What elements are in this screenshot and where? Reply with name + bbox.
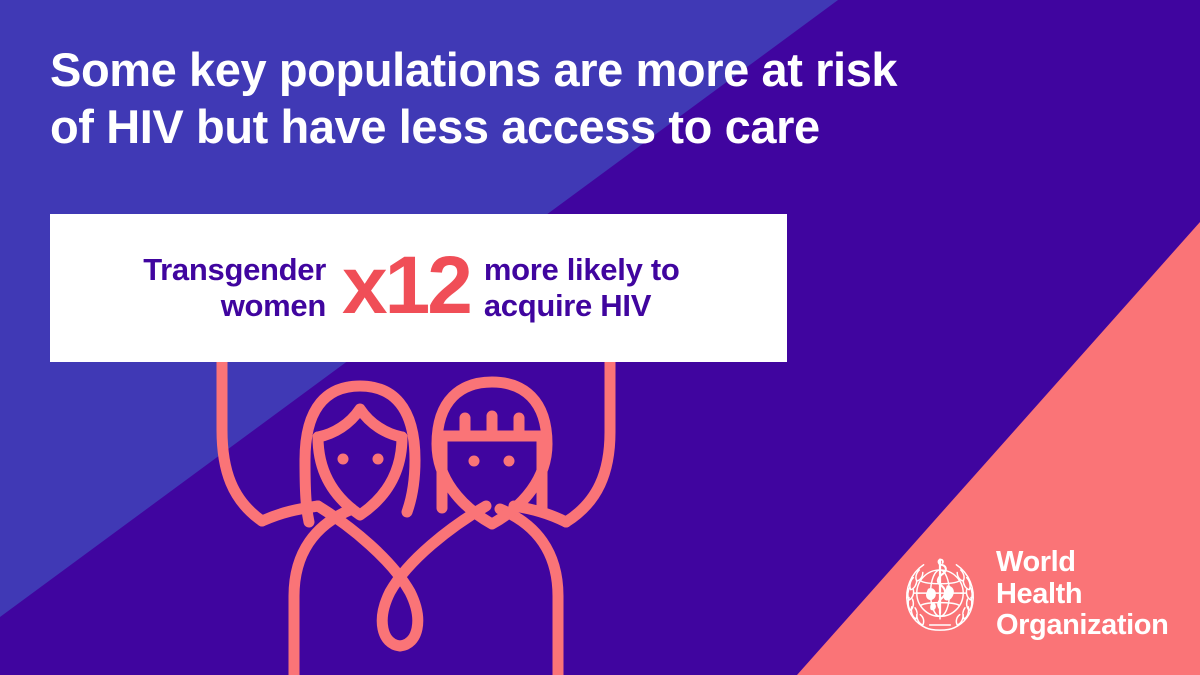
who-emblem-icon [897,551,983,637]
statistic-card: Transgender women x12 more likely to acq… [50,214,787,362]
statistic-outcome: more likely to acquire HIV [484,252,680,324]
left-figure-hair-left-side [305,460,309,522]
right-figure-head-outline [437,382,547,524]
statistic-multiplier: x12 [326,247,484,324]
left-figure-body [294,509,352,675]
right-figure-body [500,509,558,675]
headline-line-2: of HIV but have less access to care [50,99,1110,156]
who-name-line-2: Organization [996,610,1168,641]
statistic-subject-line-1: Transgender [80,252,326,288]
who-logo: World Health Organization [897,548,1167,640]
who-name-line-1: World Health [996,547,1168,609]
page-title: Some key populations are more at risk of… [50,42,1110,156]
inner-arms-crossing-loop [318,506,486,646]
statistic-subject: Transgender women [80,252,326,324]
left-figure-face [318,437,402,515]
left-figure-hair-part [318,409,402,437]
statistic-outcome-line-2: acquire HIV [484,288,680,324]
infographic-canvas: Some key populations are more at risk of… [0,0,1200,675]
statistic-outcome-line-1: more likely to [484,252,680,288]
who-wordmark: World Health Organization [996,547,1168,640]
left-figure-eye-left [338,454,349,465]
left-figure-eye-right [373,454,384,465]
statistic-subject-line-2: women [80,288,326,324]
right-figure-eye-right [504,456,515,467]
left-figure-raised-arm [222,360,262,521]
right-figure-eye-left [469,456,480,467]
right-figure-raised-arm [566,360,610,522]
headline-line-1: Some key populations are more at risk [50,42,1110,99]
